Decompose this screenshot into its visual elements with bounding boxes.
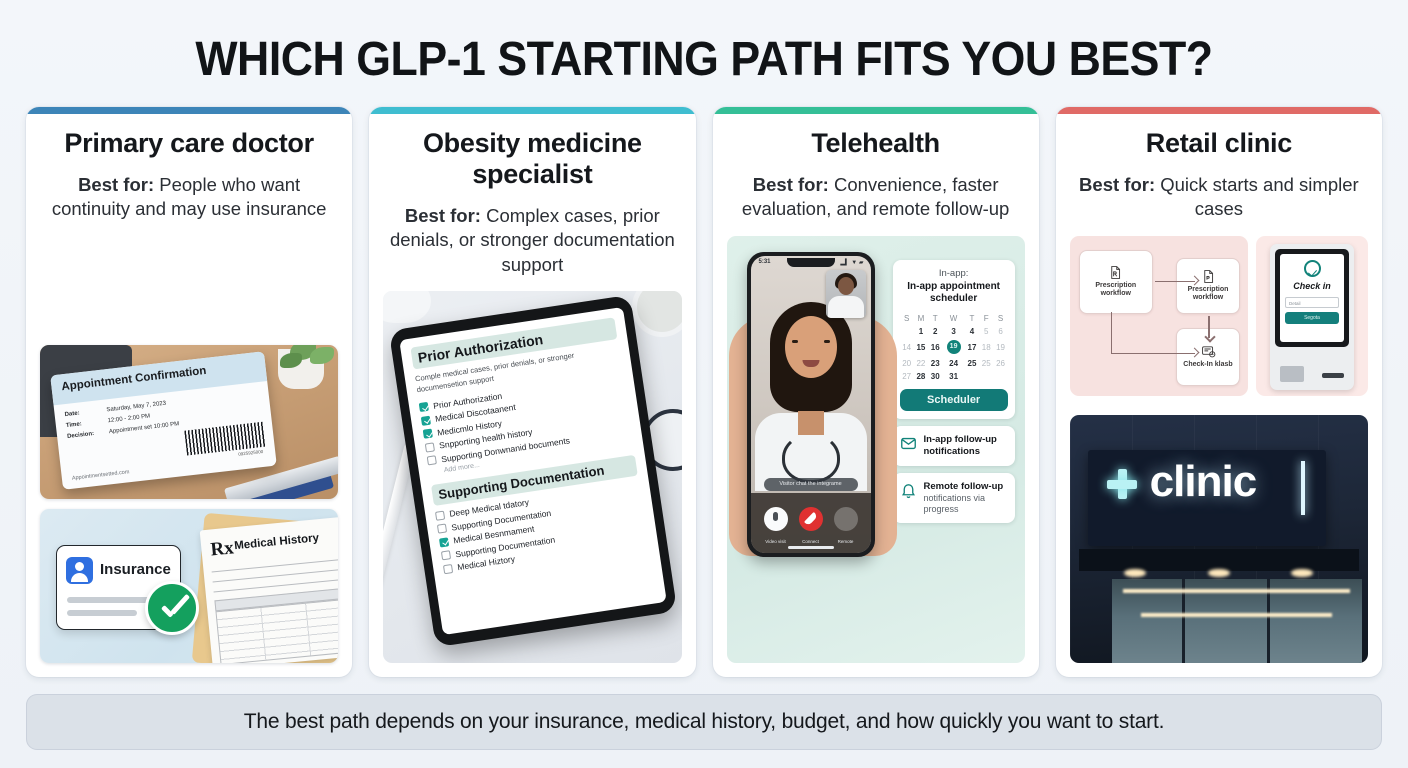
kiosk-title: Check in (1293, 281, 1331, 291)
weekday: M (914, 312, 928, 325)
ceiling-light (1123, 589, 1350, 593)
card-accent-bar (1056, 107, 1382, 114)
weekday: F (979, 312, 993, 325)
picture-in-picture-video[interactable] (826, 270, 866, 318)
card-media: Prescription workflow Prescription workf… (1070, 222, 1368, 663)
bell-icon (900, 482, 917, 499)
card-accent-bar (26, 107, 352, 114)
computer-mouse (383, 291, 431, 323)
barcode-number: 0925925000 (238, 449, 263, 457)
scheduler-button[interactable]: Scheduler (900, 389, 1008, 411)
check-circle-icon (1304, 260, 1321, 277)
tablet-device: Prior Authorization Comple medical cases… (389, 295, 678, 648)
flow-node-prescription-workflow-2: Prescription workflow (1176, 258, 1240, 314)
best-for-label: Best for: (78, 174, 154, 195)
remote-icon[interactable] (834, 507, 858, 531)
calendar-day[interactable]: 5 (979, 325, 993, 338)
checkbox-icon[interactable] (435, 511, 445, 521)
control-label: Connect (794, 539, 828, 544)
calendar-day[interactable]: 14 (900, 338, 914, 356)
kiosk-card-slot (1280, 366, 1304, 382)
calendar-day[interactable]: 28 (914, 370, 928, 383)
plant-leaf (310, 347, 334, 364)
calendar-week-row: 20 22 23 24 25 25 26 (900, 357, 1008, 370)
calendar-day[interactable]: 19 (993, 338, 1007, 356)
remote-follow-up-notifications-widget[interactable]: Remote follow-up notifications via progr… (893, 473, 1015, 523)
calendar-day[interactable]: 23 (928, 357, 942, 370)
kiosk-input[interactable]: Detail (1285, 297, 1339, 308)
weekday: T (965, 312, 979, 325)
calendar-day-selected[interactable]: 19 (942, 338, 964, 356)
checkbox-checked-icon[interactable] (439, 537, 449, 547)
rx-symbol: Rx (210, 537, 235, 561)
appointment-card: Appointment Confirmation Date:Saturday, … (50, 351, 277, 490)
control-label: Video visit (759, 539, 793, 544)
telehealth-widgets: In-app: In-app appointment scheduler S M… (887, 244, 1017, 655)
calendar-day[interactable]: 26 (993, 357, 1007, 370)
card-best-for: Best for: People who want continuity and… (40, 173, 338, 222)
card-title: Telehealth (727, 128, 1025, 159)
kiosk-submit-button[interactable]: Segota (1285, 312, 1339, 324)
card-obesity-medicine-specialist[interactable]: Obesity medicine specialist Best for: Co… (369, 107, 695, 677)
row-value: Appointment set 10:00 PM (109, 421, 180, 435)
calendar-week-row: 1 2 3 4 5 6 (900, 325, 1008, 338)
weekday: S (993, 312, 1007, 325)
row-value: 12:00 - 2:00 PM (107, 414, 150, 425)
checkbox-checked-icon[interactable] (419, 402, 429, 412)
cup-top (632, 291, 682, 337)
kiosk-receipt-slot (1322, 373, 1344, 378)
clinic-sign: clinic (1088, 450, 1327, 547)
calendar-day[interactable]: 17 (965, 338, 979, 356)
envelope-icon (900, 435, 917, 452)
rx-document-icon (1108, 265, 1123, 280)
pip-face (838, 277, 854, 295)
calendar-week-row: 14 15 16 19 17 18 19 (900, 338, 1008, 356)
calendar-day[interactable]: 4 (965, 325, 979, 338)
best-for-label: Best for: (405, 205, 481, 226)
end-call-icon[interactable] (799, 507, 823, 531)
card-telehealth[interactable]: Telehealth Best for: Convenience, faster… (713, 107, 1039, 677)
footer-note: The best path depends on your insurance,… (26, 694, 1382, 750)
calendar-day[interactable]: 20 (900, 357, 914, 370)
appointment-url: Appointmentsetted.com (72, 469, 130, 482)
card-best-for: Best for: Convenience, faster evaluation… (727, 173, 1025, 222)
in-app-appointment-scheduler-widget[interactable]: In-app: In-app appointment scheduler S M… (893, 260, 1015, 419)
in-app-follow-up-notifications-widget[interactable]: In-app follow-up notifications (893, 426, 1015, 466)
card-title: Retail clinic (1070, 128, 1368, 159)
widget-title: In-app appointment scheduler (900, 281, 1008, 306)
phone-screen: 5:31 ▂▍ ▼ ▰ (751, 256, 871, 553)
prescription-workflow-diagram: Prescription workflow Prescription workf… (1070, 236, 1248, 396)
tablet-screen: Prior Authorization Comple medical cases… (399, 307, 667, 635)
home-indicator (788, 546, 834, 549)
card-media: Appointment Confirmation Date:Saturday, … (40, 331, 338, 663)
flow-arrow-1 (1155, 281, 1195, 282)
calendar-day[interactable]: 22 (914, 357, 928, 370)
calendar-week-row: 27 28 30 31 (900, 370, 1008, 383)
flow-node-prescription-workflow: Prescription workflow (1079, 250, 1153, 314)
calendar-day-selected-label: 19 (947, 340, 961, 354)
weekday: T (928, 312, 942, 325)
kiosk-body: Check in Detail Segota (1270, 244, 1354, 390)
ceiling-light (1141, 613, 1332, 617)
placeholder-line (67, 610, 137, 616)
widget-eyebrow: In-app: (900, 268, 1008, 280)
flow-node-label: Prescription workflow (1080, 282, 1152, 299)
calendar-day[interactable]: 25 (979, 357, 993, 370)
sign-accent-bar (1301, 461, 1305, 515)
calendar-day[interactable]: 3 (942, 325, 964, 338)
green-check-icon (145, 581, 199, 635)
appointment-confirmation-photo: Appointment Confirmation Date:Saturday, … (40, 345, 338, 499)
flow-node-label: Prescription workflow (1177, 286, 1239, 303)
self-checkin-kiosk-photo: Check in Detail Segota (1256, 236, 1368, 396)
calendar-day[interactable] (965, 370, 979, 383)
kiosk-screen[interactable]: Check in Detail Segota (1280, 254, 1344, 342)
widget-subtitle: notifications via progress (924, 493, 1008, 515)
video-caption: Visitor chat the integrame (764, 478, 858, 491)
notch (787, 258, 835, 267)
calendar-day[interactable]: 15 (914, 338, 928, 356)
widget-title: In-app follow-up notifications (924, 434, 1008, 458)
phone-in-hand: 5:31 ▂▍ ▼ ▰ (735, 244, 887, 655)
stethoscope-icon (782, 433, 840, 483)
calendar-weekday-row: S M T W T F S (900, 312, 1008, 325)
medical-history-form: Rx Medical History (200, 516, 338, 663)
appointment-rows: Date:Saturday, May 7, 2023 Time:12:00 - … (64, 397, 180, 443)
calendar-day[interactable]: 16 (928, 338, 942, 356)
calendar-day[interactable]: 30 (928, 370, 942, 383)
smartphone: 5:31 ▂▍ ▼ ▰ (747, 252, 875, 557)
retail-top-row: Prescription workflow Prescription workf… (1070, 236, 1368, 396)
checkbox-checked-icon[interactable] (423, 429, 433, 439)
calendar-day[interactable] (979, 370, 993, 383)
calendar-day[interactable]: 25 (965, 357, 979, 370)
medical-cross-icon (1107, 469, 1137, 499)
calendar-day[interactable]: 2 (928, 325, 942, 338)
calendar-day[interactable]: 6 (993, 325, 1007, 338)
weekday: W (942, 312, 964, 325)
calendar-day[interactable]: 1 (914, 325, 928, 338)
call-controls-bar: Video visit Connect Remote (751, 493, 871, 553)
calendar-day[interactable]: 18 (979, 338, 993, 356)
flow-arrow-3-v (1111, 312, 1112, 354)
card-media: Prior Authorization Comple medical cases… (383, 277, 681, 663)
page-title: WHICH GLP-1 STARTING PATH FITS YOU BEST? (73, 14, 1334, 107)
checkbox-icon[interactable] (441, 551, 451, 561)
calendar-day[interactable] (900, 325, 914, 338)
doctor-neck (798, 411, 824, 435)
best-for-text: Quick starts and simpler cases (1155, 174, 1359, 220)
doctor-eye (792, 340, 798, 343)
checkbox-checked-icon[interactable] (421, 416, 431, 426)
clinic-sign-text: clinic (1150, 457, 1257, 507)
best-for-label: Best for: (1079, 174, 1155, 195)
kiosk-bezel: Check in Detail Segota (1275, 249, 1349, 347)
calendar-day[interactable]: 31 (942, 370, 964, 383)
insurance-label: Insurance (100, 561, 171, 578)
card-media: 5:31 ▂▍ ▼ ▰ (727, 222, 1025, 663)
status-time: 5:31 (759, 259, 771, 265)
document-icon (1201, 269, 1216, 284)
prior-authorization-tablet-photo: Prior Authorization Comple medical cases… (383, 291, 681, 663)
flow-node-label: Check-In klasb (1183, 361, 1232, 369)
flow-arrow-3-h (1111, 353, 1195, 354)
card-title: Obesity medicine specialist (383, 128, 681, 190)
infographic-page: WHICH GLP-1 STARTING PATH FITS YOU BEST?… (0, 0, 1408, 768)
row-value: Saturday, May 7, 2023 (106, 401, 166, 414)
insurance-medical-history-photo: Rx Medical History Insurance (40, 509, 338, 663)
check-in-card-icon (1201, 344, 1216, 359)
checkbox-icon[interactable] (437, 524, 447, 534)
card-accent-bar (369, 107, 695, 114)
person-icon (66, 557, 93, 584)
form-title: Medical History (234, 532, 320, 552)
calendar-day[interactable] (993, 370, 1007, 383)
placeholder-line (67, 597, 157, 603)
checkbox-icon[interactable] (443, 564, 453, 574)
cards-row: Primary care doctor Best for: People who… (26, 107, 1382, 677)
best-for-label: Best for: (753, 174, 829, 195)
card-title: Primary care doctor (40, 128, 338, 159)
telehealth-photo: 5:31 ▂▍ ▼ ▰ (727, 236, 1025, 663)
checkbox-icon[interactable] (427, 456, 437, 466)
calendar-day[interactable]: 24 (942, 357, 964, 370)
card-primary-care-doctor[interactable]: Primary care doctor Best for: People who… (26, 107, 352, 677)
widget-title: Remote follow-up (924, 481, 1008, 493)
doctor-eye (824, 340, 830, 343)
doctor-face (785, 316, 837, 378)
card-accent-bar (713, 107, 1039, 114)
pip-coat (828, 296, 864, 318)
status-icons: ▂▍ ▼ ▰ (840, 259, 863, 266)
microphone-icon[interactable] (764, 507, 788, 531)
control-label: Remote (829, 539, 863, 544)
calendar-day[interactable]: 27 (900, 370, 914, 383)
card-best-for: Best for: Complex cases, prior denials, … (383, 204, 681, 278)
calendar[interactable]: S M T W T F S (900, 312, 1008, 384)
canopy-downlights (1094, 569, 1345, 579)
card-best-for: Best for: Quick starts and simpler cases (1070, 173, 1368, 222)
card-retail-clinic[interactable]: Retail clinic Best for: Quick starts and… (1056, 107, 1382, 677)
weekday: S (900, 312, 914, 325)
checkbox-icon[interactable] (425, 442, 435, 452)
retail-clinic-storefront-photo: clinic (1070, 415, 1368, 663)
